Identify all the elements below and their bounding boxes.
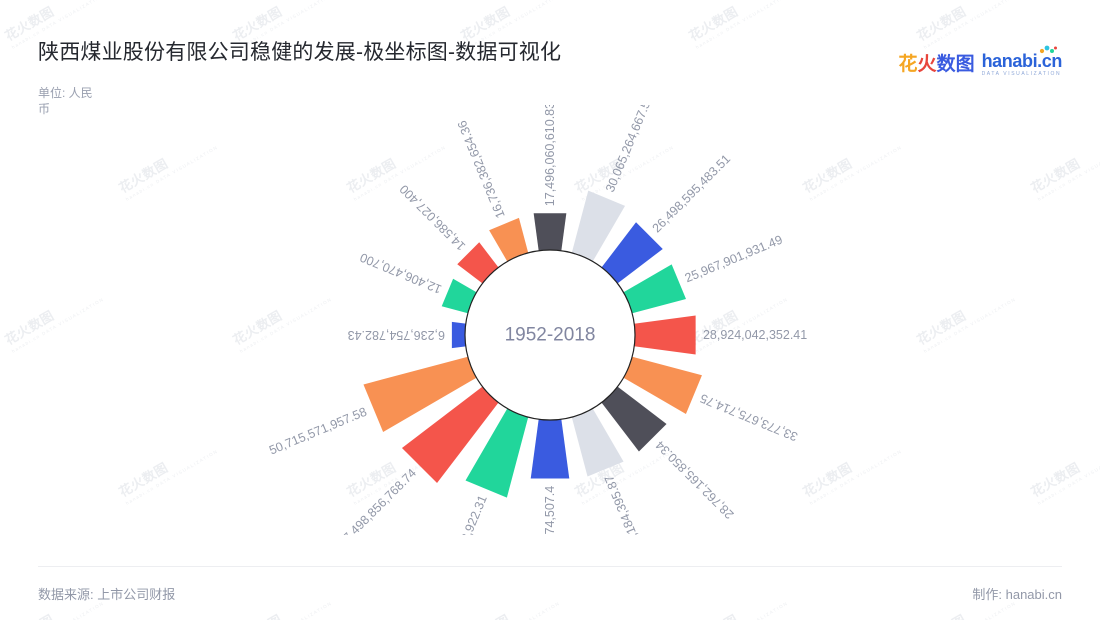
- bar-value-label: 47,498,856,768.74: [335, 466, 419, 535]
- logo-char-1: 花: [899, 54, 918, 75]
- bar-value-label: 25,967,901,931.49: [683, 232, 785, 285]
- bar-value-label: 50,715,571,957.58: [267, 405, 369, 458]
- bar-value-label: 38,980,048,922.31: [437, 493, 490, 535]
- logo-char-2: 火: [918, 54, 937, 75]
- bar-value-label: 12,406,470,700: [358, 250, 444, 296]
- logo-chinese-text: 花火数图: [899, 55, 975, 74]
- bar-value-label: 33,773,675,714.75: [698, 391, 800, 444]
- unit-label: 单位: 人民币: [38, 85, 98, 117]
- polar-bar-chart: 1952-2018 17,496,060,610.8330,065,264,66…: [0, 105, 1100, 535]
- bar-value-label: 27,906,374,507.4: [543, 486, 557, 535]
- sparkle-icon: [1038, 45, 1058, 55]
- bar-value-label: 28,679,184,395.87: [602, 473, 655, 535]
- polar-bar[interactable]: [452, 322, 466, 348]
- bar-value-label: 28,924,042,352.41: [703, 328, 807, 342]
- data-source-text: 数据来源: 上市公司财报: [38, 584, 175, 603]
- brand-logo: 花火数图 hanabi.cn DATA VISUALIZATION: [899, 52, 1062, 77]
- polar-bar[interactable]: [634, 315, 695, 354]
- bar-value-label: 16,736,382,654.36: [455, 118, 508, 220]
- polar-bar[interactable]: [531, 419, 570, 478]
- logo-char-3: 数: [937, 54, 956, 75]
- logo-en-sub: DATA VISUALIZATION: [982, 72, 1062, 77]
- logo-char-4: 图: [956, 54, 975, 75]
- bar-value-label: 28,762,165,850.34: [653, 438, 737, 522]
- polar-bar[interactable]: [602, 222, 663, 283]
- bar-value-label: 17,496,060,610.83: [543, 105, 557, 206]
- made-by-text: 制作: hanabi.cn: [972, 584, 1062, 603]
- center-label: 1952-2018: [505, 325, 596, 346]
- polar-chart-svg: 1952-2018 17,496,060,610.8330,065,264,66…: [0, 105, 1100, 535]
- bar-value-label: 26,498,595,483.51: [650, 152, 734, 236]
- polar-bar[interactable]: [534, 213, 567, 250]
- page-title: 陕西煤业股份有限公司稳健的发展-极坐标图-数据可视化: [38, 36, 561, 66]
- bar-value-label: 14,586,027,400: [397, 182, 468, 253]
- footer: 数据来源: 上市公司财报 制作: hanabi.cn: [0, 566, 1100, 620]
- footer-divider: [38, 566, 1062, 567]
- logo-english-text: hanabi.cn DATA VISUALIZATION: [982, 52, 1062, 77]
- bar-value-label: 6,236,754,782.43: [348, 328, 445, 342]
